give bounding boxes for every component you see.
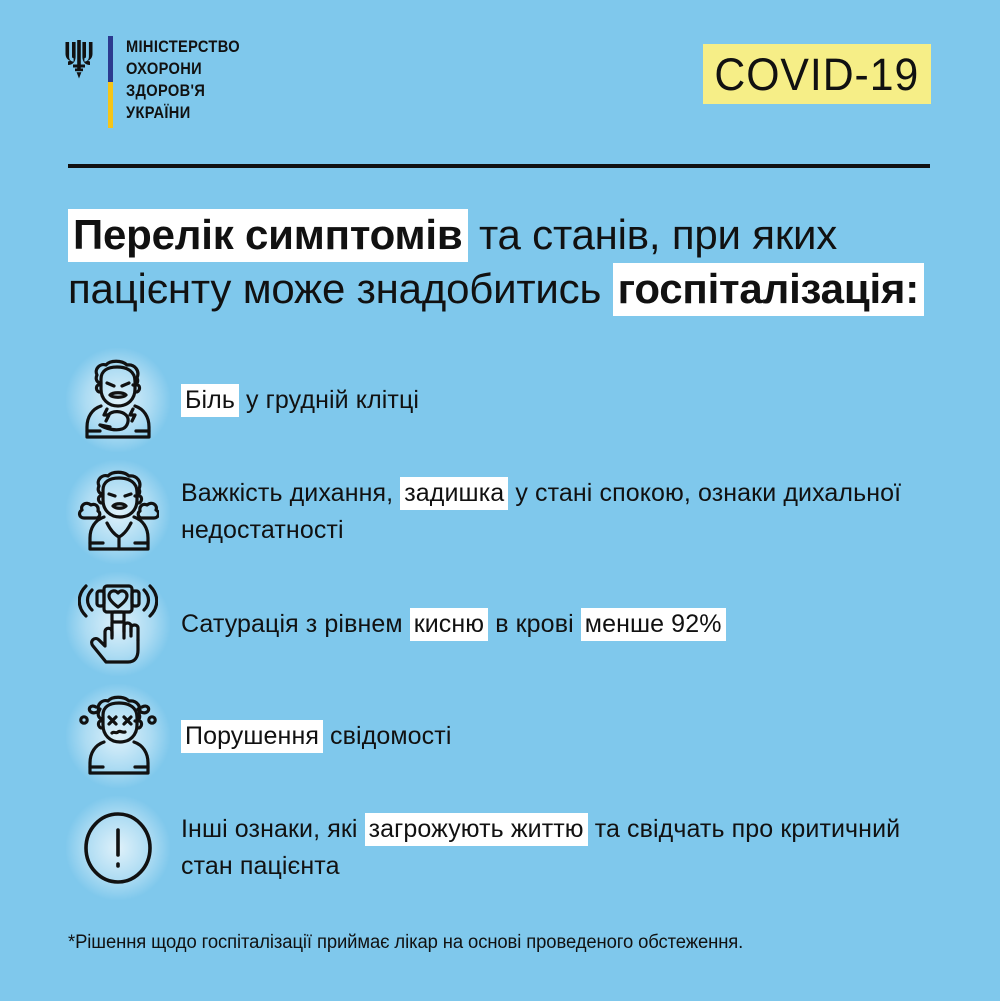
ministry-line-4: УКРАЇНИ [126, 102, 240, 124]
list-item-text: Біль у грудній клітці [168, 382, 429, 419]
header-divider [68, 164, 930, 168]
infographic-page: МІНІСТЕРСТВО ОХОРОНИ ЗДОРОВ'Я УКРАЇНИ CO… [0, 0, 1000, 1001]
list-item-text: Важкість дихання, задишка у стані спокою… [168, 475, 948, 549]
page-title-emphasis-2: госпіталізація: [613, 263, 924, 316]
person-dizzy-icon [68, 688, 168, 784]
list-item-highlight: загрожують життю [365, 813, 588, 846]
ministry-line-3: ЗДОРОВ'Я [126, 80, 240, 102]
ukraine-flag-bar [108, 36, 113, 128]
list-item-text: Інші ознаки, які загрожують життю та сві… [168, 811, 948, 885]
list-item-plain: Важкість дихання, [181, 479, 400, 507]
list-item-plain: свідомості [323, 722, 451, 750]
ministry-name: МІНІСТЕРСТВО ОХОРОНИ ЗДОРОВ'Я УКРАЇНИ [126, 36, 259, 124]
ministry-line-2: ОХОРОНИ [126, 58, 240, 80]
ministry-line-1: МІНІСТЕРСТВО [126, 36, 240, 58]
list-item-highlight: менше 92% [581, 608, 726, 641]
header: МІНІСТЕРСТВО ОХОРОНИ ЗДОРОВ'Я УКРАЇНИ CO… [0, 0, 1000, 150]
list-item: Інші ознаки, які загрожують життю та сві… [68, 800, 948, 896]
ukraine-trident-icon [62, 38, 96, 80]
list-item-plain: Сатурація з рівнем [181, 610, 410, 638]
ministry-logo: МІНІСТЕРСТВО ОХОРОНИ ЗДОРОВ'Я УКРАЇНИ [62, 36, 259, 128]
list-item-text: Порушення свідомості [168, 718, 461, 755]
exclamation-circle-icon [68, 800, 168, 896]
footnote: *Рішення щодо госпіталізації приймає лік… [68, 930, 941, 956]
list-item-highlight: Порушення [181, 720, 323, 753]
list-item: Біль у грудній клітці [68, 352, 948, 448]
list-item-highlight: Біль [181, 384, 239, 417]
list-item-plain: Інші ознаки, які [181, 815, 365, 843]
symptom-list: Біль у грудній клітці [68, 352, 948, 912]
person-shortness-of-breath-icon [68, 464, 168, 560]
covid-badge: COVID-19 [703, 44, 931, 104]
list-item: Порушення свідомості [68, 688, 948, 784]
page-title: Перелік симптомів та станів, при яких па… [68, 208, 958, 316]
list-item-highlight: кисню [410, 608, 488, 641]
list-item-plain: у грудній клітці [239, 386, 419, 414]
page-title-emphasis-1: Перелік симптомів [68, 209, 468, 262]
list-item-highlight: задишка [400, 477, 508, 510]
list-item-text: Сатурація з рівнем кисню в крові менше 9… [168, 606, 736, 643]
covid-badge-label: COVID-19 [715, 52, 920, 97]
pulse-oximeter-finger-icon [68, 576, 168, 672]
person-chest-pain-icon [68, 352, 168, 448]
list-item: Сатурація з рівнем кисню в крові менше 9… [68, 576, 948, 672]
list-item: Важкість дихання, задишка у стані спокою… [68, 464, 948, 560]
list-item-plain: в крові [488, 610, 581, 638]
